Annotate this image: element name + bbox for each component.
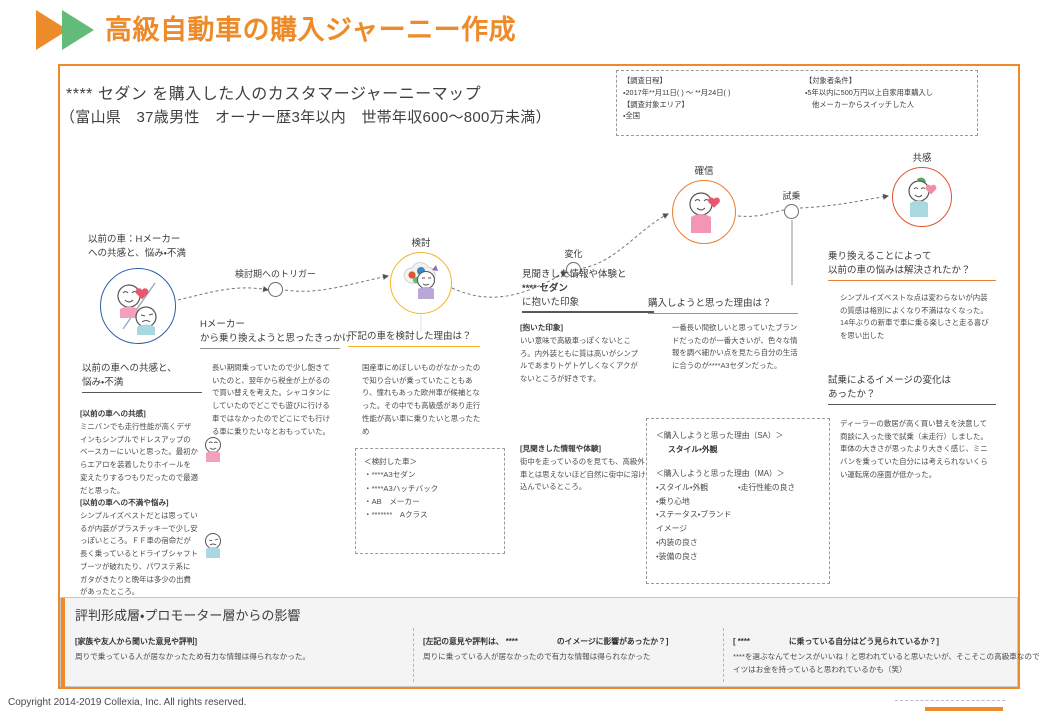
sa-title: ＜購入しようと思った理由（SA）＞ [656,429,820,443]
survey-area-head: 【調査対象エリア】 [623,99,795,111]
slide-canvas: 高級自動車の購入ジャーニー作成 **** セダン を購入した人のカスタマージャー… [0,0,1040,720]
considered-cars-box: ＜検討した車＞ ・****A3セダン ・****A3ハッチバック ・AB メーカ… [355,448,505,554]
footer-dashed-line [895,700,1005,701]
survey-schedule-head: 【調査日程】 [623,75,795,87]
promoter-col1-body: 周りで乗っている人が居なかったため有力な情報は得られなかった。 [75,651,405,664]
testdrive-heading-l1: 試乗によるイメージの変化は [828,374,996,388]
promoter-col1-head: [家族や友人から聞いた意見や評判] [75,636,405,647]
promoter-col-image-impact: [左記の意見や評判は、 **** のイメージに影響があったか？] 周りに乗ってい… [423,636,723,664]
consider-heading-text: 下記の車を検討した理由は？ [348,330,480,344]
kyoukan-ring [892,167,952,227]
waypoint-change-label: 変化 [564,247,582,260]
promoter-col2-body: 周りに乗っている人が居なかったので有力な情報は得られなかった [423,651,723,664]
stage-kakushin[interactable]: 確信 [672,180,736,244]
considered-cars-title: ＜検討した車＞ [364,455,496,468]
footer-orange-bar [925,707,1003,711]
ma-item: ・乗り心地 [656,495,738,509]
waypoint-test-drive[interactable]: 試乗 [784,204,799,219]
reason-heading-text: 購入しようと思った理由は？ [648,297,798,311]
solved-heading: 乗り換えることによって 以前の車の悩みは解決されたか？ [828,250,996,281]
ma-item: ・装備の良さ [656,550,738,564]
purchase-reason-box: ＜購入しようと思った理由（SA）＞ スタイル・外観 ＜購入しようと思った理由（M… [646,418,830,584]
solved-heading-l2: 以前の車の悩みは解決されたか？ [828,264,996,278]
previous-car-heading-l1: 以前の車：Hメーカー [88,233,186,247]
stage-previous-car[interactable] [100,268,176,344]
previous-car-summary-l2: 悩み・不満 [82,376,202,390]
waypoint-test-drive-label: 試乗 [782,189,800,202]
change-heading-l1: 見聞きした情報や体験と [522,268,654,282]
previous-car-empathy-body: ミニバンでも走行性能が高くデザインもシンプルでドレスアップのベースカーにいいと思… [80,421,198,497]
stage-kyoukan[interactable]: 共感 [892,167,952,227]
previous-car-summary-rule [82,392,202,393]
change-impression: [抱いた印象] いい意味で高級車っぽくないところ。内外装ともに質は高いがシンプル… [520,322,642,386]
considered-car-item: ・AB メーカー [364,495,496,508]
change-heading-rule [522,311,654,312]
solved-heading-l1: 乗り換えることによって [828,250,996,264]
trigger-heading: Hメーカー から乗り換えようと思ったきっかけ [200,318,340,349]
solved-heading-rule [828,280,996,281]
thinking-cloud-icon [392,254,450,312]
survey-info-box: 【調査日程】 ・2017年**月11日( ) 〜 **月24日( ) 【調査対象… [616,70,978,136]
reason-heading-rule [648,313,798,314]
waypoint-test-drive-dot [784,204,799,219]
previous-car-heading-l2: への共感と、悩み・不満 [88,247,186,261]
kakushin-ring [672,180,736,244]
previous-car-ring [100,268,176,344]
promoter-col3-body: ****を選ぶなんてセンスがいいね！と思われていると思いたいが、そこそこの高級車… [733,651,1040,677]
testdrive-heading: 試乗によるイメージの変化は あったか？ [828,374,996,405]
considered-car-item: ・****A3セダン [364,468,496,481]
trigger-body: 長い期間乗っていたので少し飽きていたのと、翌年から税金が上がるので買い替えを考え… [212,362,334,438]
considered-car-item: ・****A3ハッチバック [364,482,496,495]
ma-list-right: ・走行性能の良さ [738,481,820,564]
previous-car-summary: 以前の車への共感と、 悩み・不満 [82,362,202,393]
survey-target-head: 【対象者条件】 [805,75,971,87]
testdrive-heading-l2: あったか？ [828,388,996,402]
previous-car-dissatisfaction-head: [以前の車への不満や悩み] [80,497,198,510]
ma-title: ＜購入しようと思った理由（MA）＞ [656,467,820,481]
consider-heading: 下記の車を検討した理由は？ [348,330,480,347]
solved-body: シンプルイズベストな点は変わらないが内装の質感は格別によくなり不満はなくなった。… [840,292,990,343]
stage-kentou[interactable]: 検討 [390,252,452,314]
subtitle-line2: （富山県 37歳男性 オーナー歴3年以内 世帯年収600〜800万未満） [60,106,551,127]
waypoint-trigger-dot [268,282,283,297]
consider-body: 国産車にめぼしいものがなかったので知り合いが乗っていたこともあり、憧れもあった欧… [362,362,484,438]
consider-heading-rule [348,346,480,347]
promoter-col-family: [家族や友人から聞いた意見や評判] 周りで乗っている人が居なかったため有力な情報… [75,636,405,664]
promoter-divider [723,628,724,682]
promoter-col-self-image: [ **** に乗っている自分はどう見られているか？] ****を選ぶなんてセン… [733,636,1040,677]
previous-car-heading: 以前の車：Hメーカー への共感と、悩み・不満 [88,233,186,262]
smiling-person-icon [674,182,734,242]
ma-item: ・走行性能の良さ [738,481,820,495]
testdrive-heading-rule [828,404,996,405]
stage-kakushin-label: 確信 [694,163,713,177]
survey-schedule-value: ・2017年**月11日( ) 〜 **月24日( ) [623,87,795,99]
considered-car-item: ・******* Aクラス [364,508,496,521]
testdrive-body: ディーラーの敷居が高く買い替えを決意して商談に入った後で試乗（未走行）しました。… [840,418,990,482]
kentou-ring [390,252,452,314]
two-faces-icon [101,269,175,343]
trigger-heading-l2: から乗り換えようと思ったきっかけ [200,332,340,346]
promoter-accent-bar [61,598,65,688]
ma-item: ・内装の良さ [656,536,738,550]
subtitle-line1: **** セダン を購入した人のカスタマージャーニーマップ [66,80,481,104]
promoter-col2-head: [左記の意見や評判は、 **** のイメージに影響があったか？] [423,636,723,647]
trigger-heading-rule [200,348,340,349]
slide-header: 高級自動車の購入ジャーニー作成 [0,0,1040,62]
survey-area-value: ・全国 [623,110,795,122]
cheering-person-icon [894,169,950,225]
previous-car-dissatisfaction-body: シンプルイズベストだとは思っているが内装がプラスチッキーで少し安っぽいところ。Ｆ… [80,510,198,599]
green-arrow-icon [62,10,94,50]
change-experience-head: [見聞きした情報や体験] [520,443,646,456]
ma-item: ・スタイル・外観 [656,481,738,495]
waypoint-trigger-label: 検討期へのトリガー [235,267,316,280]
change-impression-body: いい意味で高級車っぽくないところ。内外装ともに質は高いがシンプルであまりトゲトゲ… [520,335,642,386]
reason-heading: 購入しようと思った理由は？ [648,297,798,314]
ma-item: ・ステータス・ブランドイメージ [656,508,738,536]
promoter-col3-head: [ **** に乗っている自分はどう見られているか？] [733,636,1040,647]
change-experience-body: 街中を走っているのを見ても、高級外車とは思えないほど自然に街中に溶け込んでいると… [520,456,646,494]
trigger-heading-l1: Hメーカー [200,318,340,332]
change-experience: [見聞きした情報や体験] 街中を走っているのを見ても、高級外車とは思えないほど自… [520,443,646,494]
header-arrows [36,10,110,50]
promoter-panel-title: 評判形成層・プロモーター層からの影響 [75,605,300,624]
ma-list: ・スタイル・外観 ・乗り心地 ・ステータス・ブランドイメージ ・内装の良さ ・装… [656,481,820,564]
stage-kyoukan-label: 共感 [912,150,931,164]
survey-target-line1: ・5年以内に500万円以上自家用車購入し [805,87,971,99]
promoter-influence-panel: 評判形成層・プロモーター層からの影響 [家族や友人から聞いた意見や評判] 周りで… [60,597,1018,687]
change-heading-l3: に抱いた印象 [522,296,654,310]
change-heading-l2: **** セダン [522,282,654,296]
previous-car-dissatisfaction: [以前の車への不満や悩み] シンプルイズベストだとは思っているが内装がプラスチッ… [80,497,198,599]
reason-body: 一番長い間欲しいと思っていたブランドだったのが一番大きいが、色々な情報を調べ細か… [672,322,798,373]
survey-info-col-schedule: 【調査日程】 ・2017年**月11日( ) 〜 **月24日( ) 【調査対象… [623,75,795,131]
survey-target-line2: 他メーカーからスイッチした人 [805,99,971,111]
previous-car-empathy-head: [以前の車への共感] [80,408,198,421]
change-impression-head: [抱いた印象] [520,322,642,335]
survey-info-col-target: 【対象者条件】 ・5年以内に500万円以上自家用車購入し 他メーカーからスイッチ… [805,75,971,131]
change-heading: 見聞きした情報や体験と **** セダン に抱いた印象 [522,268,654,313]
sa-value: スタイル・外観 [656,443,820,457]
stage-kentou-label: 検討 [411,235,430,249]
promoter-divider [413,628,414,682]
page-title: 高級自動車の購入ジャーニー作成 [105,8,516,47]
ma-list-left: ・スタイル・外観 ・乗り心地 ・ステータス・ブランドイメージ ・内装の良さ ・装… [656,481,738,564]
copyright-footer: Copyright 2014-2019 Collexia, Inc. All r… [8,697,246,708]
previous-car-summary-l1: 以前の車への共感と、 [82,362,202,376]
previous-car-empathy: [以前の車への共感] ミニバンでも走行性能が高くデザインもシンプルでドレスアップ… [80,408,198,497]
waypoint-trigger[interactable]: 検討期へのトリガー [268,282,283,297]
dissatisfaction-face-icon [196,528,230,562]
